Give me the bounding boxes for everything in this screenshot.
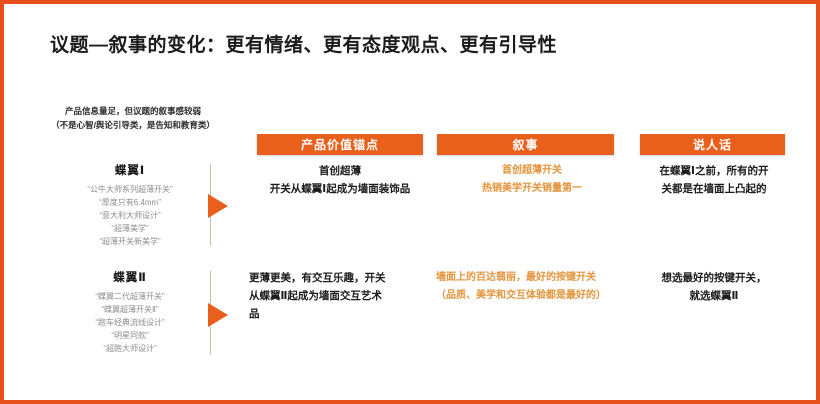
plain-line-1: 想选最好的按键开关， — [638, 269, 790, 287]
arrow-right-icon — [208, 194, 228, 218]
narrative-line-1: 墙面上的百达翡丽，最好的按键开关 — [436, 269, 628, 287]
slide-canvas: 议题—叙事的变化：更有情绪、更有态度观点、更有引导性 产品信息量足，但议题的叙事… — [4, 4, 816, 400]
quote-item: “公牛大师系列超薄开关” — [24, 184, 236, 197]
quote-item: “跑车经典流线设计” — [24, 317, 236, 330]
quote-item: “超薄开关新美学” — [24, 236, 236, 249]
column-header-plain: 说人话 — [640, 134, 785, 155]
row-left-cell: 蝶翼Ⅰ “公牛大师系列超薄开关” “厚度只有6.4mm” “意大利大师设计” “… — [24, 162, 236, 249]
narrative-line-2: （品质、美学和交互体验都是最好的） — [436, 287, 628, 305]
quote-item: “超跑大师设计” — [24, 343, 236, 356]
anchor-line-1: 更薄更美，有交互乐趣，开关 — [249, 269, 431, 287]
plain-line-1: 在蝶翼Ⅰ之前，所有的开 — [638, 162, 790, 180]
anchor-line-1: 首创超薄 — [249, 162, 431, 180]
plain-speak-cell: 想选最好的按键开关， 就选蝶翼Ⅱ — [638, 269, 790, 305]
intro-note-line-2: （不是心智/舆论引导类，是告知和教育类） — [28, 118, 238, 132]
quote-item: “蝶翼二代超薄开关” — [24, 291, 236, 304]
anchor-statement-cell: 更薄更美，有交互乐趣，开关 从蝶翼Ⅱ起成为墙面交互艺术 品 — [249, 269, 431, 323]
plain-line-2: 就选蝶翼Ⅱ — [638, 287, 790, 305]
arrow-right-icon — [208, 303, 228, 327]
quote-item: “意大利大师设计” — [24, 210, 236, 223]
column-header-anchor: 产品价值锚点 — [257, 134, 423, 155]
slide-frame: 议题—叙事的变化：更有情绪、更有态度观点、更有引导性 产品信息量足，但议题的叙事… — [0, 0, 820, 404]
product-name: 蝶翼Ⅱ — [24, 269, 236, 285]
anchor-statement-cell: 首创超薄 开关从蝶翼Ⅰ起成为墙面装饰品 — [249, 162, 431, 198]
narrative-statement-cell: 首创超薄开关 热销美学开关销量第一 — [436, 162, 628, 198]
narrative-line-1: 首创超薄开关 — [436, 162, 628, 180]
quote-item: “蝶翼超薄开关Ⅱ” — [24, 304, 236, 317]
plain-line-2: 关都是在墙面上凸起的 — [638, 180, 790, 198]
page-title: 议题—叙事的变化：更有情绪、更有态度观点、更有引导性 — [50, 30, 557, 57]
anchor-line-2: 开关从蝶翼Ⅰ起成为墙面装饰品 — [249, 180, 431, 198]
column-header-narrative: 叙事 — [437, 134, 614, 155]
plain-speak-cell: 在蝶翼Ⅰ之前，所有的开 关都是在墙面上凸起的 — [638, 162, 790, 198]
product-name: 蝶翼Ⅰ — [24, 162, 236, 178]
intro-note: 产品信息量足，但议题的叙事感较弱 （不是心智/舆论引导类，是告知和教育类） — [28, 104, 238, 132]
anchor-line-2: 从蝶翼Ⅱ起成为墙面交互艺术 — [249, 287, 431, 305]
narrative-statement-cell: 墙面上的百达翡丽，最好的按键开关 （品质、美学和交互体验都是最好的） — [436, 269, 628, 305]
row-left-cell: 蝶翼Ⅱ “蝶翼二代超薄开关” “蝶翼超薄开关Ⅱ” “跑车经典流线设计” “明星同… — [24, 269, 236, 356]
anchor-line-3: 品 — [249, 305, 431, 323]
quote-item: “超薄美学” — [24, 223, 236, 236]
intro-note-line-1: 产品信息量足，但议题的叙事感较弱 — [28, 104, 238, 118]
quote-item: “厚度只有6.4mm” — [24, 197, 236, 210]
quote-item: “明星同款” — [24, 330, 236, 343]
narrative-line-2: 热销美学开关销量第一 — [436, 180, 628, 198]
